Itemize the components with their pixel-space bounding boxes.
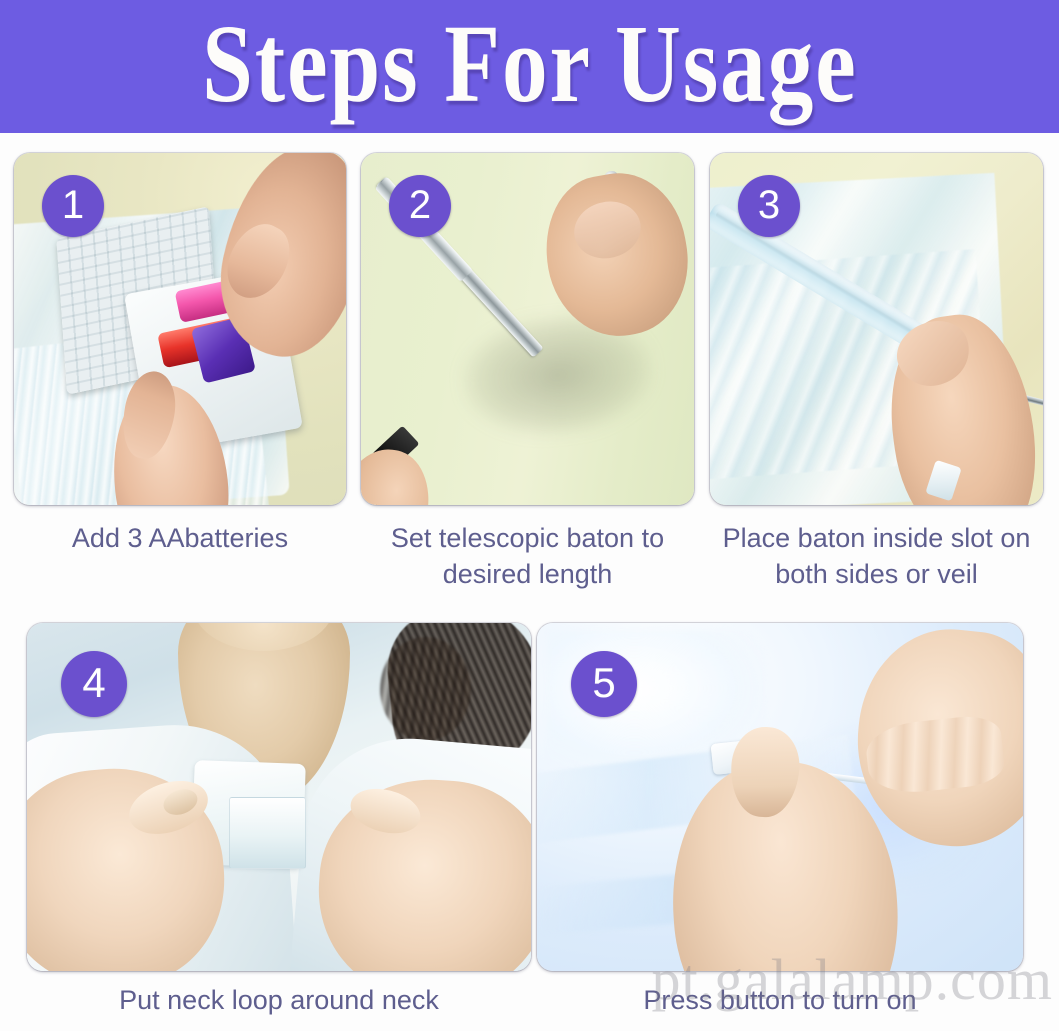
step-2-photo: 2 (361, 153, 694, 505)
step-5-photo: 5 (537, 623, 1023, 971)
hair-wisps (380, 637, 471, 741)
step-number-badge-1: 1 (42, 175, 104, 237)
step-caption-5: Press button to turn on (537, 983, 1023, 1019)
step-number-badge-5: 5 (571, 651, 637, 717)
step-number-3: 3 (758, 185, 780, 225)
step-number-badge-4: 4 (61, 651, 127, 717)
step-number-5: 5 (592, 662, 615, 704)
steps-grid: 1 Add 3 AAbatteries 2 Set telescop (0, 133, 1059, 1031)
step-card-5: 5 Press button to turn on (537, 623, 1023, 971)
step-card-3: 3 Place baton inside slot on both sides … (710, 153, 1043, 505)
step-caption-3: Place baton inside slot on both sides or… (710, 521, 1043, 593)
neck-loop-fastener (229, 797, 307, 869)
step-card-2: 2 Set telescopic baton to desired length (361, 153, 694, 505)
header-banner: Steps For Usage (0, 0, 1059, 133)
step-number-2: 2 (409, 185, 431, 225)
step-card-4: 4 Put neck loop around neck (27, 623, 531, 971)
step-4-photo: 4 (27, 623, 531, 971)
step-caption-1: Add 3 AAbatteries (14, 521, 346, 557)
step-1-photo: 1 (14, 153, 346, 505)
step-caption-4: Put neck loop around neck (27, 983, 531, 1019)
step-number-1: 1 (62, 185, 84, 225)
step-number-badge-3: 3 (738, 175, 800, 237)
step-number-badge-2: 2 (389, 175, 451, 237)
step-number-4: 4 (82, 662, 105, 704)
page-title: Steps For Usage (202, 9, 858, 125)
step-3-photo: 3 (710, 153, 1043, 505)
step-card-1: 1 Add 3 AAbatteries (14, 153, 346, 505)
step-caption-2: Set telescopic baton to desired length (361, 521, 694, 593)
